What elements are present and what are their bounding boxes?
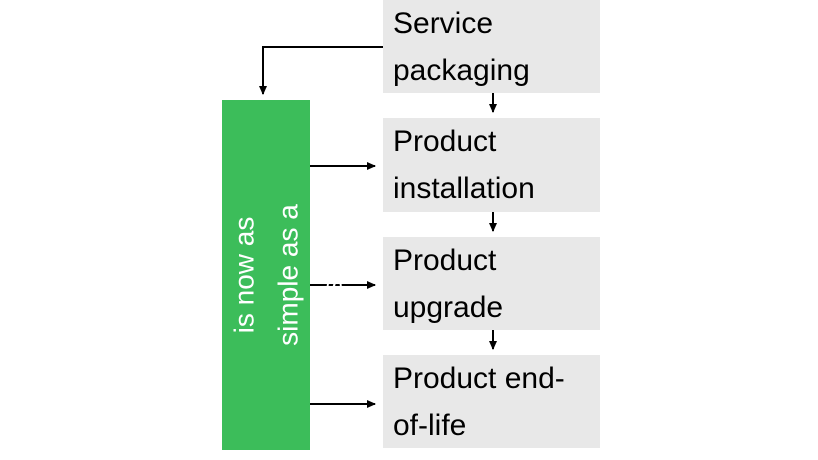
node-label-product-upgrade: Product upgrade [383,237,600,331]
node-label-connectivity-sw-service: Connectivity is now as simple as a SW se… [178,199,354,352]
node-connectivity-sw-service[interactable]: Connectivity is now as simple as a SW se… [222,100,310,450]
node-service-packaging[interactable]: Service packaging [383,0,600,93]
diagram-canvas: Connectivity is now as simple as a SW se… [0,0,818,460]
node-product-upgrade[interactable]: Product upgrade [383,237,600,330]
node-label-product-installation: Product installation [383,118,600,212]
node-label-product-end-of-life: Product end- of-life [383,355,600,449]
connector-service-packaging-to-highlight [263,47,383,94]
node-product-end-of-life[interactable]: Product end- of-life [383,355,600,448]
vertical-text-wrapper: Connectivity is now as simple as a SW se… [222,100,310,450]
node-label-service-packaging: Service packaging [383,0,600,94]
node-product-installation[interactable]: Product installation [383,118,600,212]
